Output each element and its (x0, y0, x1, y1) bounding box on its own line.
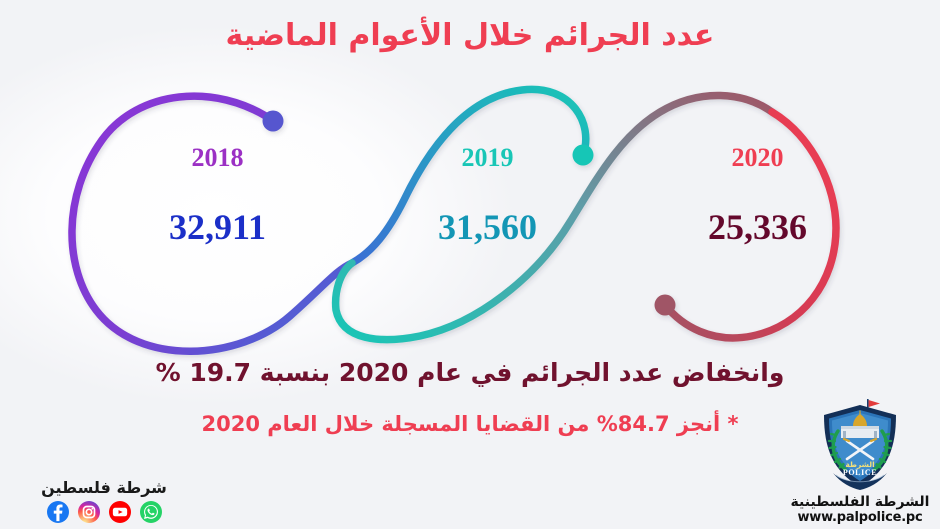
stat-value-2019: 31,560 (355, 209, 620, 245)
footer-badge-block: الشرطة POLICE الشرطة الفلسطينية www.palp… (790, 397, 930, 525)
whatsapp-icon[interactable] (140, 501, 162, 523)
footer-org-short-name: شرطة فلسطين (14, 478, 194, 497)
badge-text-english: POLICE (843, 468, 877, 477)
facebook-icon[interactable] (47, 501, 69, 523)
footer-org-name: الشرطة الفلسطينية (790, 494, 930, 510)
loop-endpoint-2018 (263, 111, 284, 132)
social-links-row (14, 501, 194, 523)
stat-block-2020: 2020 25,336 (625, 145, 890, 245)
stat-year-2019: 2019 (355, 145, 620, 171)
stat-block-2018: 2018 32,911 (85, 145, 350, 245)
stat-year-2018: 2018 (85, 145, 350, 171)
stat-value-2020: 25,336 (625, 209, 890, 245)
instagram-icon[interactable] (78, 501, 100, 523)
youtube-icon[interactable] (109, 501, 131, 523)
footer-social-block: شرطة فلسطين (14, 478, 194, 523)
stat-year-2020: 2020 (625, 145, 890, 171)
palestinian-police-badge-icon: الشرطة POLICE (817, 397, 903, 493)
page-title: عدد الجرائم خلال الأعوام الماضية (0, 18, 940, 53)
footer-website-url[interactable]: www.palpolice.pc (790, 510, 930, 525)
summary-line-decrease: وانخفاض عدد الجرائم في عام 2020 بنسبة 19… (0, 358, 940, 387)
stat-block-2019: 2019 31,560 (355, 145, 620, 245)
infographic-poster: عدد الجرائم خلال الأعوام الماضية (0, 0, 940, 529)
loop-endpoint-2020 (655, 295, 676, 316)
stat-value-2018: 32,911 (85, 209, 350, 245)
